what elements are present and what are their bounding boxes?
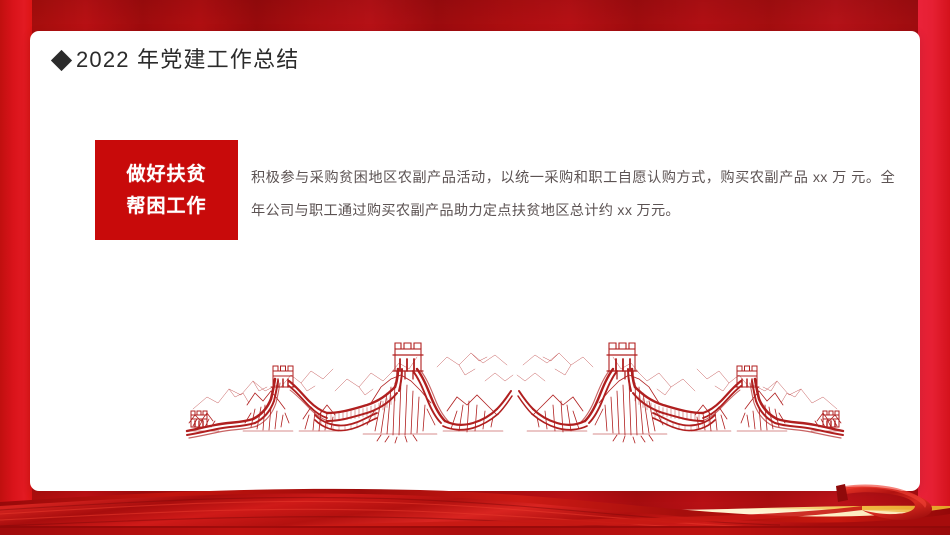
page-title: 2022 年党建工作总结 <box>54 49 299 71</box>
great-wall-half-left <box>185 331 515 451</box>
great-wall-illustration <box>185 331 845 451</box>
background-right-edge-strip <box>918 0 950 535</box>
slide-root: 2022 年党建工作总结 做好扶贫 帮困工作 积极参与采购贫困地区农副产品活动，… <box>0 0 950 535</box>
section-paragraph: 积极参与采购贫困地区农副产品活动，以统一采购和职工自愿认购方式，购买农副产品 x… <box>251 140 895 227</box>
background-left-edge-strip <box>0 0 32 535</box>
content-section: 做好扶贫 帮困工作 积极参与采购贫困地区农副产品活动，以统一采购和职工自愿认购方… <box>95 140 895 240</box>
page-title-label: 2022 年党建工作总结 <box>76 49 299 71</box>
diamond-icon <box>51 49 72 70</box>
section-label-line-1: 做好扶贫 <box>126 165 206 184</box>
section-label-box: 做好扶贫 帮困工作 <box>95 140 238 240</box>
great-wall-half-right <box>515 331 845 451</box>
section-label-line-2: 帮困工作 <box>126 197 206 216</box>
white-content-card: 2022 年党建工作总结 做好扶贫 帮困工作 积极参与采购贫困地区农副产品活动，… <box>30 31 920 491</box>
